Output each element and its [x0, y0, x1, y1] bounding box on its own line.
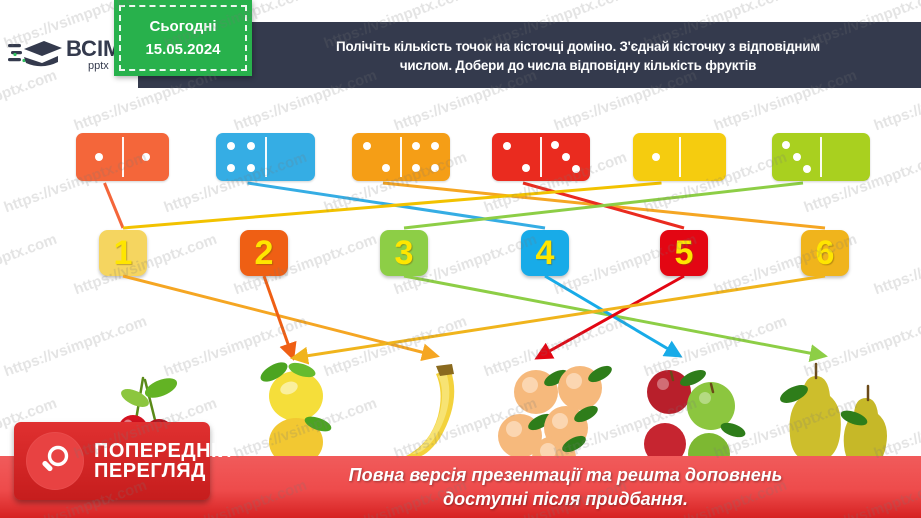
banner-line-1: Повна версія презентації та решта доповн…: [349, 463, 783, 487]
date-value: 15.05.2024: [145, 38, 220, 61]
instruction-line-2: числом. Добери до числа відповідну кільк…: [400, 56, 756, 75]
slide-canvas: 123456 Полічіть кількість точок на кісто…: [0, 0, 921, 518]
date-tab: Сьогодні 15.05.2024: [114, 0, 252, 76]
badge-line-2: ПЕРЕГЛЯД: [94, 461, 232, 481]
graduation-cap-icon: [8, 35, 64, 75]
instruction-text: Полічіть кількість точок на кісточці дом…: [248, 30, 908, 82]
preview-badge[interactable]: ПОПЕРЕДНІЙ ПЕРЕГЛЯД: [14, 422, 210, 500]
instruction-line-1: Полічіть кількість точок на кісточці дом…: [336, 37, 820, 56]
banner-line-2: доступні після придбання.: [443, 487, 688, 511]
date-label: Сьогодні: [150, 15, 217, 38]
magnifier-icon: [26, 432, 84, 490]
badge-line-1: ПОПЕРЕДНІЙ: [94, 441, 232, 461]
